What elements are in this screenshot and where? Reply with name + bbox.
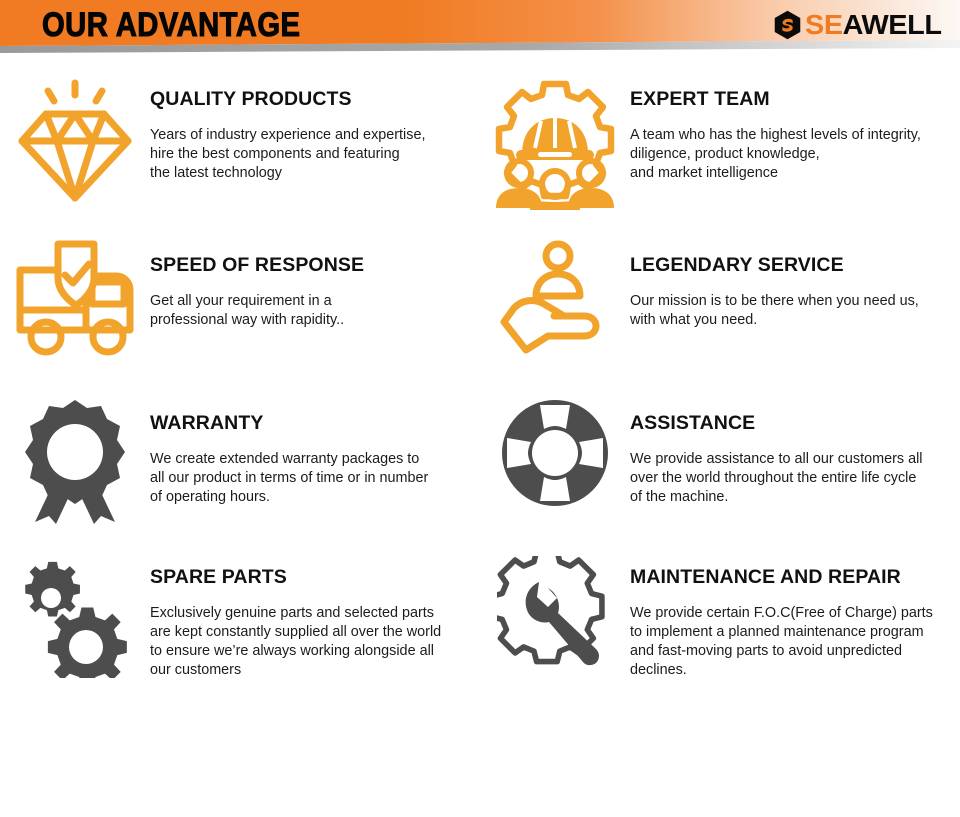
feature-description: Our mission is to be there when you need…	[630, 292, 950, 330]
brand-logo[interactable]: SEAWELL	[773, 9, 938, 41]
feature-title: ASSISTANCE	[630, 412, 950, 434]
feature-description: Get all your requirement in a profession…	[150, 292, 470, 330]
feature-title: WARRANTY	[150, 412, 470, 434]
feature-text: SPARE PARTS Exclusively genuine parts an…	[150, 550, 470, 680]
two-gears-icon	[0, 550, 150, 678]
feature-text: WARRANTY We create extended warranty pac…	[150, 392, 470, 507]
feature-text: SPEED OF RESPONSE Get all your requireme…	[150, 232, 470, 330]
feature-title: EXPERT TEAM	[630, 88, 950, 110]
feature-item-quality-products: QUALITY PRODUCTS Years of industry exper…	[0, 72, 480, 232]
seawell-hexagon-mark	[773, 10, 802, 40]
hand-person-icon	[480, 232, 630, 360]
feature-item-speed-of-response: SPEED OF RESPONSE Get all your requireme…	[0, 232, 480, 392]
feature-row: WARRANTY We create extended warranty pac…	[0, 392, 960, 550]
feature-item-legendary-service: LEGENDARY SERVICE Our mission is to be t…	[480, 232, 960, 392]
feature-title: MAINTENANCE AND REPAIR	[630, 566, 950, 588]
feature-description: We provide certain F.O.C(Free of Charge)…	[630, 604, 950, 680]
header-banner: OUR ADVANTAGE SEAWELL	[0, 0, 960, 54]
award-ribbon-icon	[0, 392, 150, 524]
life-ring-icon	[480, 392, 630, 508]
feature-row: QUALITY PRODUCTS Years of industry exper…	[0, 72, 960, 232]
logo-text-se: SE	[805, 9, 843, 40]
feature-row: SPEED OF RESPONSE Get all your requireme…	[0, 232, 960, 392]
advantage-page: OUR ADVANTAGE SEAWELL	[0, 0, 960, 817]
diamond-icon	[0, 72, 150, 206]
gear-wrench-icon	[480, 550, 630, 672]
feature-title: SPEED OF RESPONSE	[150, 254, 470, 276]
feature-text: EXPERT TEAM A team who has the highest l…	[630, 72, 950, 183]
page-title: OUR ADVANTAGE	[42, 6, 300, 44]
feature-description: A team who has the highest levels of int…	[630, 126, 950, 183]
feature-text: MAINTENANCE AND REPAIR We provide certai…	[630, 550, 950, 680]
delivery-truck-shield-icon	[0, 232, 150, 360]
logo-wordmark: SEAWELL	[805, 10, 942, 40]
feature-item-spare-parts: SPARE PARTS Exclusively genuine parts an…	[0, 550, 480, 700]
feature-item-maintenance-and-repair: MAINTENANCE AND REPAIR We provide certai…	[480, 550, 960, 700]
gear-team-icon	[480, 72, 630, 210]
feature-description: Exclusively genuine parts and selected p…	[150, 604, 470, 680]
feature-text: ASSISTANCE We provide assistance to all …	[630, 392, 950, 507]
feature-item-assistance: ASSISTANCE We provide assistance to all …	[480, 392, 960, 550]
feature-item-warranty: WARRANTY We create extended warranty pac…	[0, 392, 480, 550]
features-grid: QUALITY PRODUCTS Years of industry exper…	[0, 54, 960, 700]
feature-title: LEGENDARY SERVICE	[630, 254, 950, 276]
feature-description: We provide assistance to all our custome…	[630, 450, 950, 507]
feature-text: QUALITY PRODUCTS Years of industry exper…	[150, 72, 470, 183]
feature-item-expert-team: EXPERT TEAM A team who has the highest l…	[480, 72, 960, 232]
feature-title: QUALITY PRODUCTS	[150, 88, 470, 110]
feature-row: SPARE PARTS Exclusively genuine parts an…	[0, 550, 960, 700]
feature-title: SPARE PARTS	[150, 566, 470, 588]
logo-text-awell: AWELL	[843, 9, 942, 40]
feature-description: Years of industry experience and experti…	[150, 126, 470, 183]
feature-description: We create extended warranty packages to …	[150, 450, 470, 507]
feature-text: LEGENDARY SERVICE Our mission is to be t…	[630, 232, 950, 330]
